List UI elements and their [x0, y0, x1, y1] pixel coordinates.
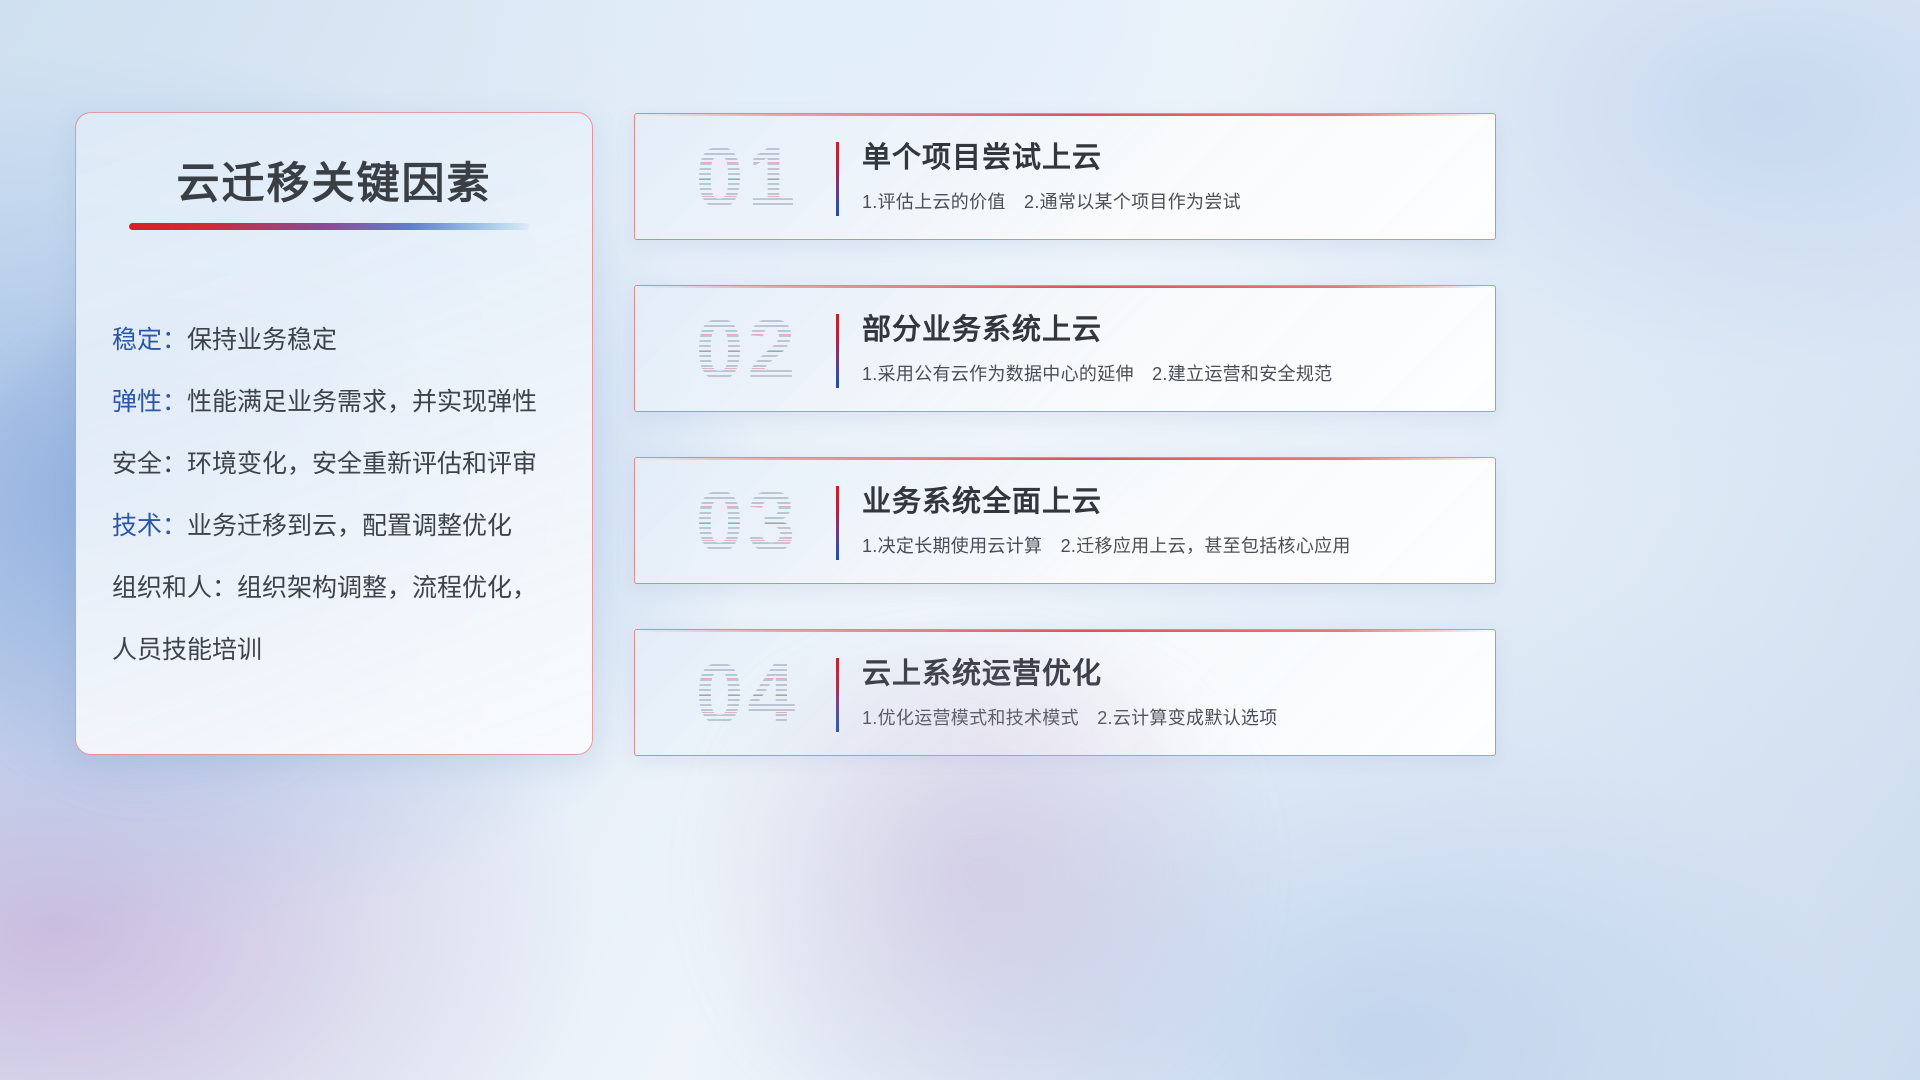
key-factors-panel: 云迁移关键因素 稳定：保持业务稳定弹性：性能满足业务需求，并实现弹性安全：环境变… — [75, 112, 593, 755]
card-subtitle: 1.采用公有云作为数据中心的延伸 2.建立运营和安全规范 — [862, 361, 1473, 387]
factor-key: 弹性： — [112, 388, 187, 416]
factor-key: 安全： — [112, 450, 187, 478]
card-accent-bar — [836, 142, 839, 216]
card-title: 业务系统全面上云 — [862, 482, 1473, 522]
page-title: 云迁移关键因素 — [76, 149, 592, 211]
card-title: 云上系统运营优化 — [862, 654, 1473, 694]
card-accent-bar — [836, 658, 839, 732]
card-top-accent-line — [635, 458, 1495, 460]
card-accent-bar — [836, 314, 839, 388]
factor-text: 组织架构调整，流程优化， — [237, 574, 537, 602]
card-number-watermark: 01 — [665, 128, 830, 228]
factor-row: 组织和人：组织架构调整，流程优化， — [112, 557, 568, 619]
card-body: 单个项目尝试上云1.评估上云的价值 2.通常以某个项目作为尝试 — [862, 138, 1473, 215]
card-body: 云上系统运营优化1.优化运营模式和技术模式 2.云计算变成默认选项 — [862, 654, 1473, 731]
card-accent-bar — [836, 486, 839, 560]
card-subtitle: 1.优化运营模式和技术模式 2.云计算变成默认选项 — [862, 705, 1473, 731]
stage-card[interactable]: 0202部分业务系统上云1.采用公有云作为数据中心的延伸 2.建立运营和安全规范 — [634, 285, 1496, 412]
factor-row: 技术：业务迁移到云，配置调整优化 — [112, 495, 568, 557]
factor-key: 组织和人： — [112, 574, 237, 602]
factor-row: 稳定：保持业务稳定 — [112, 309, 568, 371]
factor-row: 人员技能培训 — [112, 619, 568, 681]
card-top-accent-line — [635, 114, 1495, 116]
stage-card[interactable]: 0101单个项目尝试上云1.评估上云的价值 2.通常以某个项目作为尝试 — [634, 113, 1496, 240]
card-top-accent-line — [635, 286, 1495, 288]
card-number-watermark: 04 — [665, 644, 830, 744]
card-subtitle: 1.决定长期使用云计算 2.迁移应用上云，甚至包括核心应用 — [862, 533, 1473, 559]
factor-text: 业务迁移到云，配置调整优化 — [187, 512, 512, 540]
factor-row: 弹性：性能满足业务需求，并实现弹性 — [112, 371, 568, 433]
card-subtitle: 1.评估上云的价值 2.通常以某个项目作为尝试 — [862, 189, 1473, 215]
slide-canvas: 云迁移关键因素 稳定：保持业务稳定弹性：性能满足业务需求，并实现弹性安全：环境变… — [0, 0, 1920, 1080]
factor-text: 环境变化，安全重新评估和评审 — [187, 450, 537, 478]
card-body: 业务系统全面上云1.决定长期使用云计算 2.迁移应用上云，甚至包括核心应用 — [862, 482, 1473, 559]
card-top-accent-line — [635, 630, 1495, 632]
card-title: 单个项目尝试上云 — [862, 138, 1473, 178]
factor-text: 性能满足业务需求，并实现弹性 — [187, 388, 537, 416]
title-underline-gradient — [129, 223, 529, 230]
factor-list: 稳定：保持业务稳定弹性：性能满足业务需求，并实现弹性安全：环境变化，安全重新评估… — [112, 309, 568, 681]
card-title: 部分业务系统上云 — [862, 310, 1473, 350]
card-number-watermark: 02 — [665, 300, 830, 400]
card-body: 部分业务系统上云1.采用公有云作为数据中心的延伸 2.建立运营和安全规范 — [862, 310, 1473, 387]
factor-text: 人员技能培训 — [112, 636, 262, 664]
stage-card-list: 0101单个项目尝试上云1.评估上云的价值 2.通常以某个项目作为尝试0202部… — [634, 113, 1496, 756]
stage-card[interactable]: 0404云上系统运营优化1.优化运营模式和技术模式 2.云计算变成默认选项 — [634, 629, 1496, 756]
factor-row: 安全：环境变化，安全重新评估和评审 — [112, 433, 568, 495]
factor-key: 稳定： — [112, 326, 187, 354]
factor-key: 技术： — [112, 512, 187, 540]
card-number-watermark: 03 — [665, 472, 830, 572]
factor-text: 保持业务稳定 — [187, 326, 337, 354]
stage-card[interactable]: 0303业务系统全面上云1.决定长期使用云计算 2.迁移应用上云，甚至包括核心应… — [634, 457, 1496, 584]
